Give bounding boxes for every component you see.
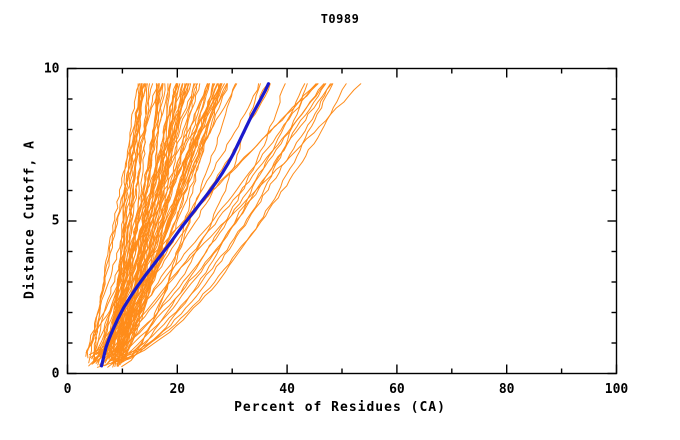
x-tick-label: 20	[169, 382, 185, 397]
x-tick-label: 100	[605, 382, 628, 397]
chart-container: T0989 0204060801000510 Percent of Residu…	[0, 0, 680, 440]
chart-title: T0989	[0, 12, 680, 26]
x-tick-label: 40	[279, 382, 295, 397]
x-axis-title: Percent of Residues (CA)	[0, 400, 680, 415]
y-tick-label: 10	[34, 61, 60, 76]
x-tick-label: 60	[389, 382, 405, 397]
plot-canvas	[0, 0, 680, 440]
y-axis-title: Distance Cutoff, A	[23, 120, 38, 320]
axes-layer	[0, 0, 680, 440]
curves-layer	[86, 84, 361, 368]
x-tick-label: 0	[64, 382, 72, 397]
y-tick-label: 0	[34, 366, 60, 381]
x-tick-label: 80	[499, 382, 515, 397]
